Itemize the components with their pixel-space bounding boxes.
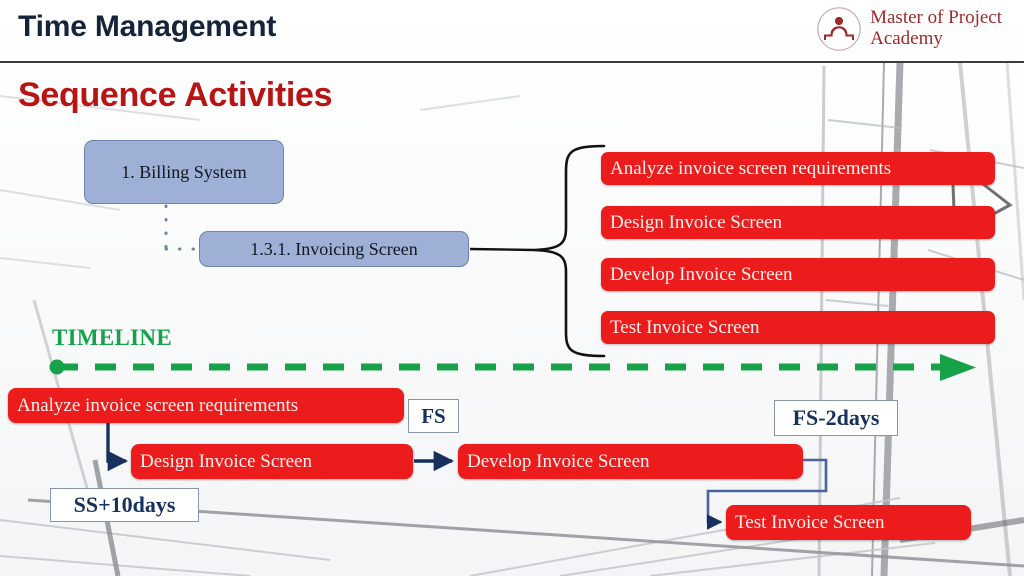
activity-box-develop[interactable]: Develop Invoice Screen (601, 258, 995, 291)
brand-logo-text: Master of Project Academy (870, 8, 1002, 49)
wbs-to-brace-line (470, 249, 534, 250)
activity-box-test[interactable]: Test Invoice Screen (601, 311, 995, 344)
timeline-label: TIMELINE (52, 325, 172, 351)
wbs-box-billing-system[interactable]: 1. Billing System (84, 140, 284, 204)
brand-line-1: Master of Project (870, 8, 1002, 29)
wbs-box-invoicing-screen[interactable]: 1.3.1. Invoicing Screen (199, 231, 469, 267)
activity-box-analyze[interactable]: Analyze invoice screen requirements (601, 152, 995, 185)
slide-title: Sequence Activities (18, 76, 332, 115)
brand-logo: Master of Project Academy (816, 6, 1002, 52)
schedule-node-design[interactable]: Design Invoice Screen (131, 444, 413, 479)
schedule-node-analyze[interactable]: Analyze invoice screen requirements (8, 388, 404, 423)
timeline-arrow (50, 354, 977, 381)
wbs-dotted-connector (166, 206, 203, 249)
activity-box-design[interactable]: Design Invoice Screen (601, 206, 995, 239)
schedule-node-develop[interactable]: Develop Invoice Screen (458, 444, 803, 479)
schedule-node-test[interactable]: Test Invoice Screen (726, 505, 971, 540)
brand-line-2: Academy (870, 29, 1002, 50)
slide-header: Time Management Master of Project Academ… (0, 0, 1024, 62)
dependency-label-fs[interactable]: FS (408, 399, 459, 433)
person-arch-logo-icon (816, 6, 862, 52)
dependency-label-ss-10days[interactable]: SS+10days (50, 488, 199, 522)
page-title: Time Management (18, 10, 276, 44)
dependency-label-fs-2days[interactable]: FS-2days (774, 400, 898, 436)
arrow-analyze-to-design (108, 423, 126, 461)
header-divider (0, 61, 1024, 63)
activity-curly-brace (534, 146, 604, 356)
